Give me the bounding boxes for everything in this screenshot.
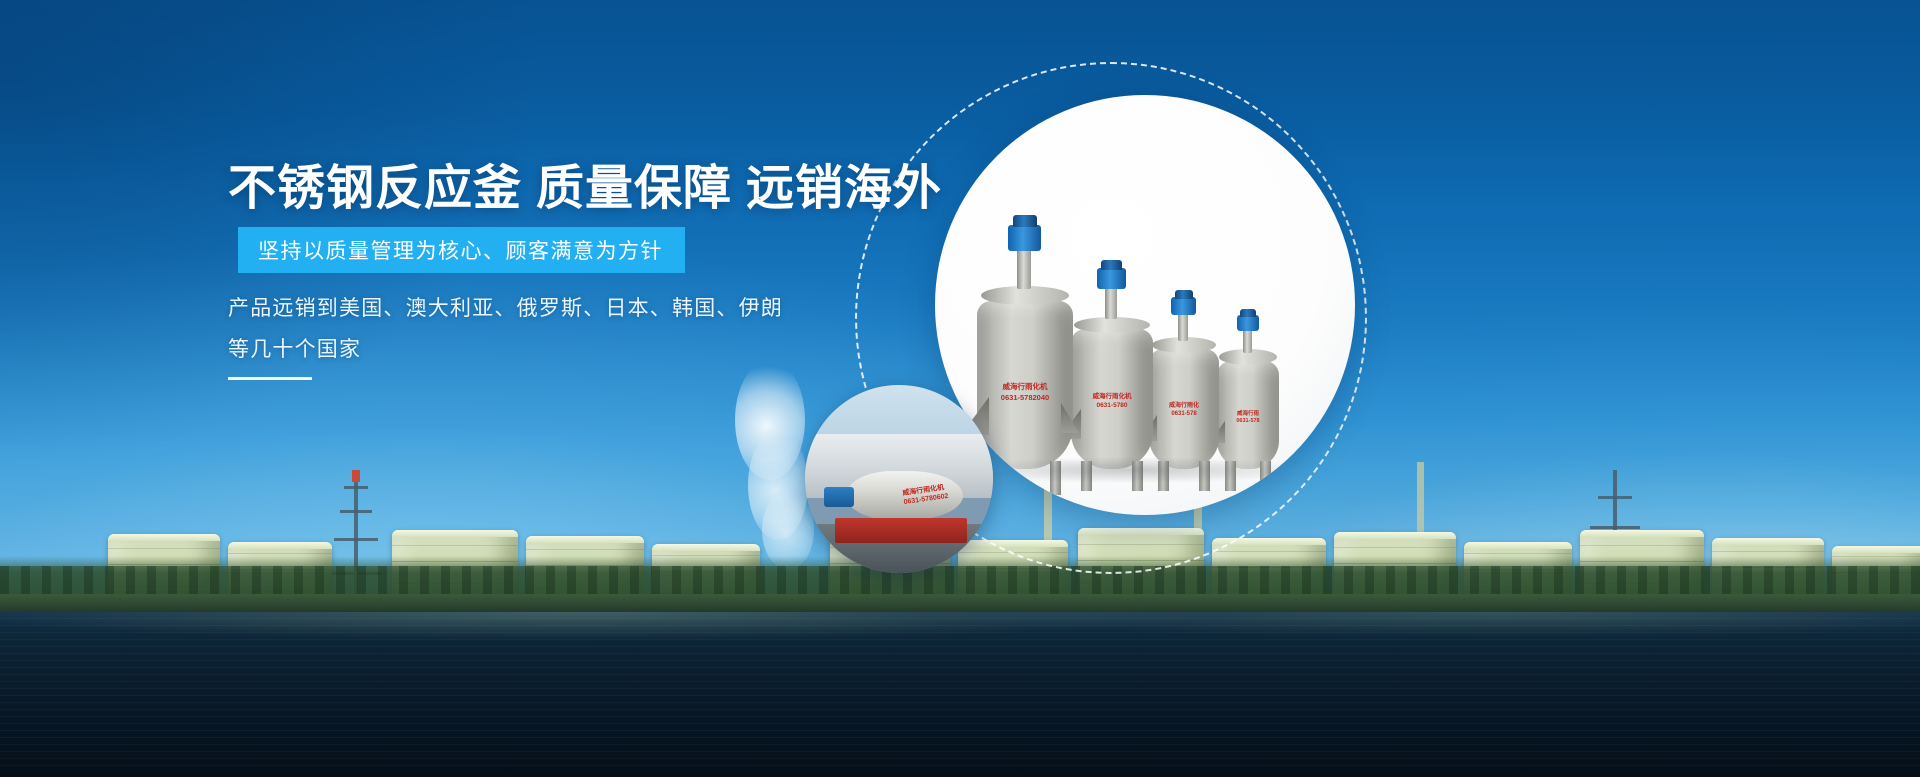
banner-ribbon: 坚持以质量管理为核心、顾客满意为方针: [238, 227, 685, 273]
headline-part-3: 远销海外: [746, 162, 942, 215]
reactor-vessel-3: 威海行雨化 0631-578: [1149, 301, 1219, 469]
headline-part-2: 质量保障: [536, 162, 732, 215]
vessel-label: 威海行雨化机 0631-5782040: [1001, 382, 1049, 403]
reactor-vessel-2: 威海行雨化机 0631-5780: [1071, 273, 1153, 469]
banner-headline: 不锈钢反应釜质量保障远销海外: [228, 165, 942, 213]
headline-part-1: 不锈钢反应釜: [228, 162, 522, 215]
vessel-label: 威海行雨 0631-578: [1236, 411, 1259, 425]
ribbon-text: 坚持以质量管理为核心、顾客满意为方针: [258, 235, 663, 265]
reactor-vessel-4: 威海行雨 0631-578: [1217, 319, 1279, 469]
paragraph-line-2: 等几十个国家: [228, 329, 783, 370]
decorative-underline: [228, 377, 312, 380]
vessel-label: 威海行雨化机 0631-5780: [1093, 393, 1132, 411]
vessel-label: 威海行雨化 0631-578: [1169, 403, 1199, 419]
paragraph-line-1: 产品远销到美国、澳大利亚、俄罗斯、日本、韩国、伊朗: [228, 288, 783, 329]
banner-copy: 不锈钢反应釜质量保障远销海外 坚持以质量管理为核心、顾客满意为方针 产品远销到美…: [0, 0, 900, 777]
hero-banner: 威海行雨 0631-578 威海行雨化 0631-578: [0, 0, 1920, 777]
product-photo-circle: 威海行雨 0631-578 威海行雨化 0631-578: [935, 95, 1355, 515]
vessel-floor-shadow: [955, 457, 1305, 483]
banner-paragraph: 产品远销到美国、澳大利亚、俄罗斯、日本、韩国、伊朗 等几十个国家: [228, 288, 783, 370]
